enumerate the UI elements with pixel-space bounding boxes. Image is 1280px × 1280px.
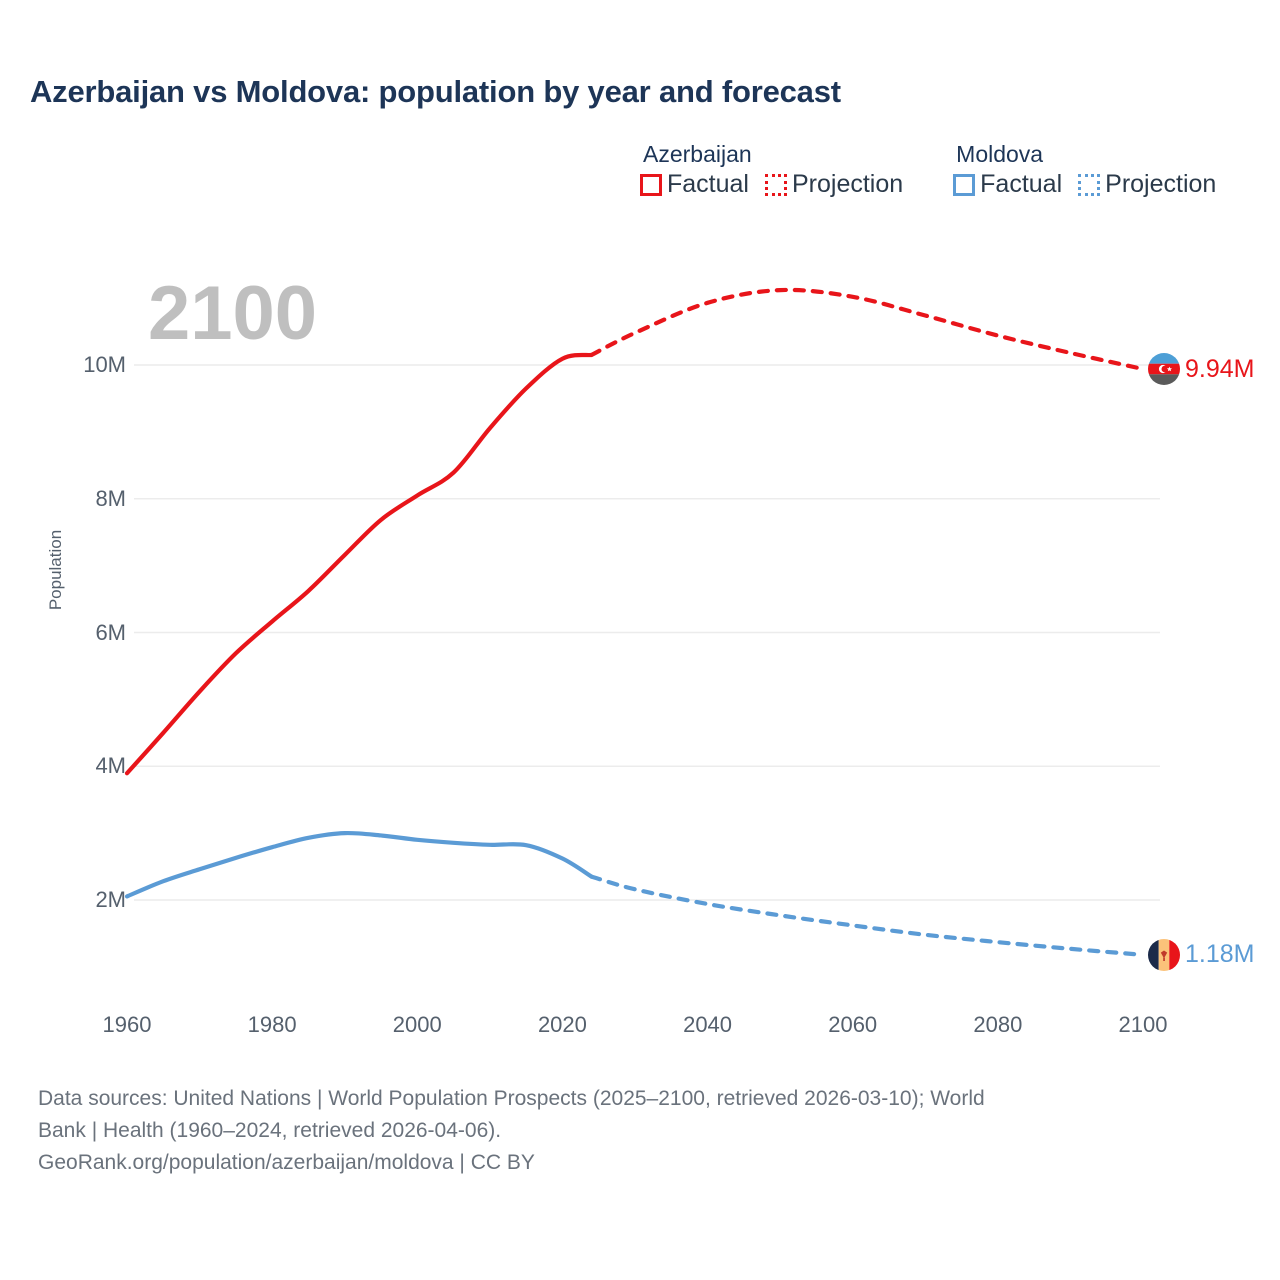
moldova-flag-icon: [1148, 939, 1180, 971]
azerbaijan-flag-icon: [1148, 353, 1180, 385]
footer-line-2: Bank | Health (1960–2024, retrieved 2026…: [38, 1115, 1258, 1147]
series-azerbaijan-projection: [591, 290, 1143, 369]
series-azerbaijan-factual: [127, 355, 591, 773]
y-tick-label: 4M: [58, 753, 126, 779]
endpoint-value-moldova: 1.18M: [1185, 942, 1254, 967]
gridlines: [134, 365, 1160, 900]
x-tick-label: 1980: [248, 1012, 297, 1038]
x-tick-label: 2020: [538, 1012, 587, 1038]
series-moldova-factual: [127, 833, 591, 896]
y-tick-label: 6M: [58, 620, 126, 646]
series-lines: [127, 290, 1143, 955]
y-tick-label: 10M: [58, 352, 126, 378]
endpoint-moldova: 1.18M: [1148, 939, 1254, 971]
y-tick-label: 2M: [58, 887, 126, 913]
endpoint-value-azerbaijan: 9.94M: [1185, 357, 1254, 382]
footer-line-3: GeoRank.org/population/azerbaijan/moldov…: [38, 1147, 1258, 1179]
x-tick-label: 2080: [973, 1012, 1022, 1038]
x-tick-label: 2060: [828, 1012, 877, 1038]
x-tick-label: 1960: [103, 1012, 152, 1038]
x-tick-label: 2000: [393, 1012, 442, 1038]
x-tick-label: 2040: [683, 1012, 732, 1038]
footer-sources: Data sources: United Nations | World Pop…: [38, 1083, 1258, 1179]
x-tick-label: 2100: [1119, 1012, 1168, 1038]
chart-page: Azerbaijan vs Moldova: population by yea…: [0, 0, 1280, 1280]
footer-line-1: Data sources: United Nations | World Pop…: [38, 1083, 1258, 1115]
y-tick-label: 8M: [58, 486, 126, 512]
series-moldova-projection: [591, 877, 1143, 955]
endpoint-azerbaijan: 9.94M: [1148, 353, 1254, 385]
